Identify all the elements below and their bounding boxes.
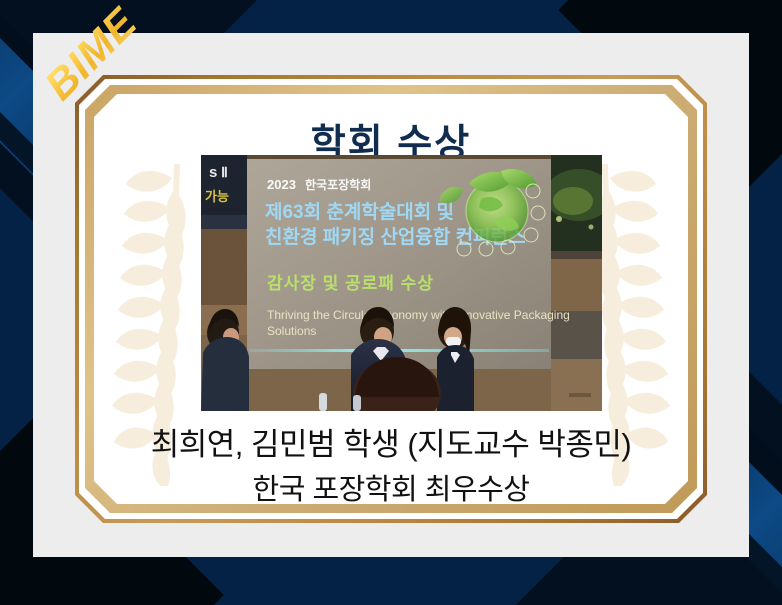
svg-text:Ⅱ: Ⅱ xyxy=(221,164,228,180)
award-ceremony-photo: s Ⅱ 가능 xyxy=(201,155,602,411)
svg-text:가능: 가능 xyxy=(205,189,229,204)
certificate-card-body: 학회 수상 xyxy=(94,94,688,504)
svg-text:Solutions: Solutions xyxy=(267,324,316,338)
svg-text:제63회 춘계학술대회 및: 제63회 춘계학술대회 및 xyxy=(265,201,454,223)
caption-block: 최희연, 김민범 학생 (지도교수 박종민) 한국 포장학회 최우수상 xyxy=(104,422,678,504)
svg-text:s: s xyxy=(209,164,217,181)
svg-text:2023: 2023 xyxy=(267,177,296,192)
award-slide: 학회 수상 xyxy=(0,0,782,605)
caption-line-students: 최희연, 김민범 학생 (지도교수 박종민) xyxy=(104,422,678,468)
svg-text:Thriving the Circular Economy: Thriving the Circular Economy with Innov… xyxy=(267,308,570,322)
certificate-card-gold-border: 학회 수상 xyxy=(85,85,697,513)
certificate-card-outer-border: 학회 수상 xyxy=(75,75,707,523)
svg-text:감사장 및 공로패 수상: 감사장 및 공로패 수상 xyxy=(267,274,434,293)
caption-line-award: 한국 포장학회 최우수상 xyxy=(104,468,678,504)
svg-text:한국포장학회: 한국포장학회 xyxy=(305,177,371,192)
certificate-card-border-gap: 학회 수상 xyxy=(79,79,703,519)
